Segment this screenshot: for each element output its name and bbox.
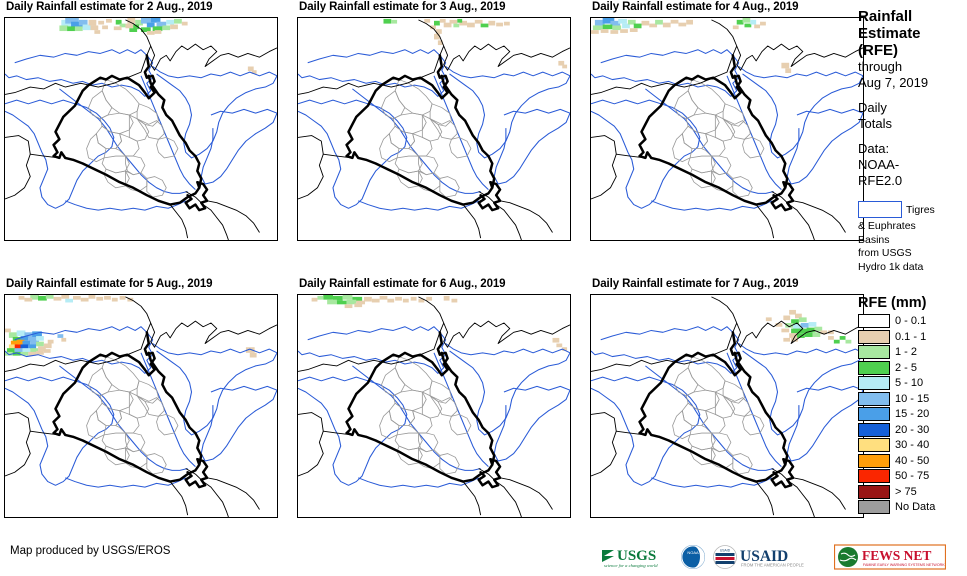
legend-totals-line2: Totals xyxy=(858,116,967,132)
rfe-swatch xyxy=(858,454,890,468)
rfe-legend: RFE (mm) 0 - 0.10.1 - 11 - 22 - 55 - 101… xyxy=(858,295,967,514)
map-credit: Map produced by USGS/EROS xyxy=(10,545,170,557)
rfe-legend-row: 5 - 10 xyxy=(858,376,967,390)
rfe-class-label: 2 - 5 xyxy=(895,362,917,374)
rfe-class-label: 20 - 30 xyxy=(895,424,929,436)
noaa-logo: NOAA xyxy=(680,544,706,570)
rfe-legend-row: 1 - 2 xyxy=(858,345,967,359)
svg-text:USGS: USGS xyxy=(617,548,656,564)
rfe-legend-row: 2 - 5 xyxy=(858,361,967,375)
basin-legend-key: Tigres & Euphrates Basins from USGS Hydr… xyxy=(858,201,967,273)
rfe-legend-row: 50 - 75 xyxy=(858,469,967,483)
rfe-swatch xyxy=(858,314,890,328)
svg-text:FEWS NET: FEWS NET xyxy=(862,548,931,563)
svg-text:NOAA: NOAA xyxy=(687,550,699,555)
rfe-swatch xyxy=(858,438,890,452)
rfe-legend-rows: 0 - 0.10.1 - 11 - 22 - 55 - 1010 - 1515 … xyxy=(858,314,967,514)
rfe-class-label: > 75 xyxy=(895,486,917,498)
rfe-class-label: 15 - 20 xyxy=(895,408,929,420)
rfe-swatch xyxy=(858,345,890,359)
svg-text:USAID: USAID xyxy=(720,549,731,553)
legend-data-source: Data: NOAA- RFE2.0 xyxy=(858,141,967,189)
panel-title-2: Daily Rainfall estimate for 3 Aug., 2019 xyxy=(299,0,575,14)
legend-totals-line1: Daily xyxy=(858,100,967,116)
map-frame-6[interactable] xyxy=(590,294,864,518)
rfe-swatch xyxy=(858,423,890,437)
legend-title-line3: (RFE) xyxy=(858,42,967,59)
map-panel-grid: Daily Rainfall estimate for 2 Aug., 2019… xyxy=(0,0,855,540)
rfe-swatch xyxy=(858,500,890,514)
usaid-logo: USAID USAID FROM THE AMERICAN PEOPLE xyxy=(712,544,828,570)
panel-title-3: Daily Rainfall estimate for 4 Aug., 2019 xyxy=(592,0,868,14)
rfe-class-label: 40 - 50 xyxy=(895,455,929,467)
map-panel-1: Daily Rainfall estimate for 2 Aug., 2019 xyxy=(0,0,282,258)
rfe-class-label: 0.1 - 1 xyxy=(895,331,926,343)
svg-text:FAMINE EARLY WARNING SYSTEMS N: FAMINE EARLY WARNING SYSTEMS NETWORK xyxy=(863,563,945,567)
panel-title-6: Daily Rainfall estimate for 7 Aug., 2019 xyxy=(592,277,868,291)
rfe-class-label: 1 - 2 xyxy=(895,346,917,358)
legend-data-line3: RFE2.0 xyxy=(858,173,967,189)
rfe-swatch xyxy=(858,469,890,483)
rfe-legend-row: 30 - 40 xyxy=(858,438,967,452)
basin-label: Tigres xyxy=(906,204,935,216)
rfe-swatch xyxy=(858,330,890,344)
rfe-swatch xyxy=(858,361,890,375)
rfe-legend-row: 40 - 50 xyxy=(858,454,967,468)
legend-heading: Rainfall Estimate (RFE) through Aug 7, 2… xyxy=(858,8,967,91)
fewsnet-logo: FEWS NET FAMINE EARLY WARNING SYSTEMS NE… xyxy=(834,544,946,570)
usgs-logo: USGS science for a changing world xyxy=(600,544,674,570)
map-panel-2: Daily Rainfall estimate for 3 Aug., 2019 xyxy=(293,0,575,258)
map-panel-6: Daily Rainfall estimate for 7 Aug., 2019 xyxy=(586,277,868,535)
basin-line5: Hydro 1k data xyxy=(858,261,967,274)
map-panel-4: Daily Rainfall estimate for 5 Aug., 2019 xyxy=(0,277,282,535)
rfe-class-label: 30 - 40 xyxy=(895,439,929,451)
rfe-legend-row: 10 - 15 xyxy=(858,392,967,406)
map-panel-5: Daily Rainfall estimate for 6 Aug., 2019 xyxy=(293,277,575,535)
panel-title-1: Daily Rainfall estimate for 2 Aug., 2019 xyxy=(6,0,282,14)
rfe-legend-row: No Data xyxy=(858,500,967,514)
basin-line3: Basins xyxy=(858,234,967,247)
rfe-class-label: 5 - 10 xyxy=(895,377,923,389)
rfe-swatch xyxy=(858,407,890,421)
legend-data-line2: NOAA- xyxy=(858,157,967,173)
legend-title-line1: Rainfall xyxy=(858,8,967,25)
panel-title-4: Daily Rainfall estimate for 5 Aug., 2019 xyxy=(6,277,282,291)
legend-through-date: Aug 7, 2019 xyxy=(858,75,967,91)
svg-text:FROM THE AMERICAN PEOPLE: FROM THE AMERICAN PEOPLE xyxy=(741,563,804,568)
rfe-legend-row: 20 - 30 xyxy=(858,423,967,437)
legend-title-line2: Estimate xyxy=(858,25,967,42)
rfe-class-label: No Data xyxy=(895,501,935,513)
rfe-swatch xyxy=(858,392,890,406)
svg-text:science for a changing world: science for a changing world xyxy=(604,563,658,568)
rfe-legend-row: 15 - 20 xyxy=(858,407,967,421)
rfe-legend-row: 0 - 0.1 xyxy=(858,314,967,328)
panel-title-5: Daily Rainfall estimate for 6 Aug., 2019 xyxy=(299,277,575,291)
legend-column: Rainfall Estimate (RFE) through Aug 7, 2… xyxy=(858,0,967,540)
basin-line4: from USGS xyxy=(858,247,967,260)
rfe-legend-row: 0.1 - 1 xyxy=(858,330,967,344)
rfe-swatch xyxy=(858,485,890,499)
rfe-class-label: 0 - 0.1 xyxy=(895,315,926,327)
rfe-class-label: 50 - 75 xyxy=(895,470,929,482)
map-frame-3[interactable] xyxy=(590,17,864,241)
basin-outline-swatch xyxy=(858,201,902,218)
basin-line2: & Euphrates xyxy=(858,220,967,233)
map-frame-4[interactable] xyxy=(4,294,278,518)
legend-totals: Daily Totals xyxy=(858,100,967,132)
map-frame-1[interactable] xyxy=(4,17,278,241)
legend-data-line1: Data: xyxy=(858,141,967,157)
rfe-class-label: 10 - 15 xyxy=(895,393,929,405)
rfe-legend-header: RFE (mm) xyxy=(858,295,967,311)
rfe-legend-row: > 75 xyxy=(858,485,967,499)
agency-logo-bar: USGS science for a changing world NOAA U… xyxy=(600,541,946,573)
rfe-swatch xyxy=(858,376,890,390)
map-panel-3: Daily Rainfall estimate for 4 Aug., 2019 xyxy=(586,0,868,258)
map-frame-5[interactable] xyxy=(297,294,571,518)
legend-through-label: through xyxy=(858,59,967,75)
map-frame-2[interactable] xyxy=(297,17,571,241)
